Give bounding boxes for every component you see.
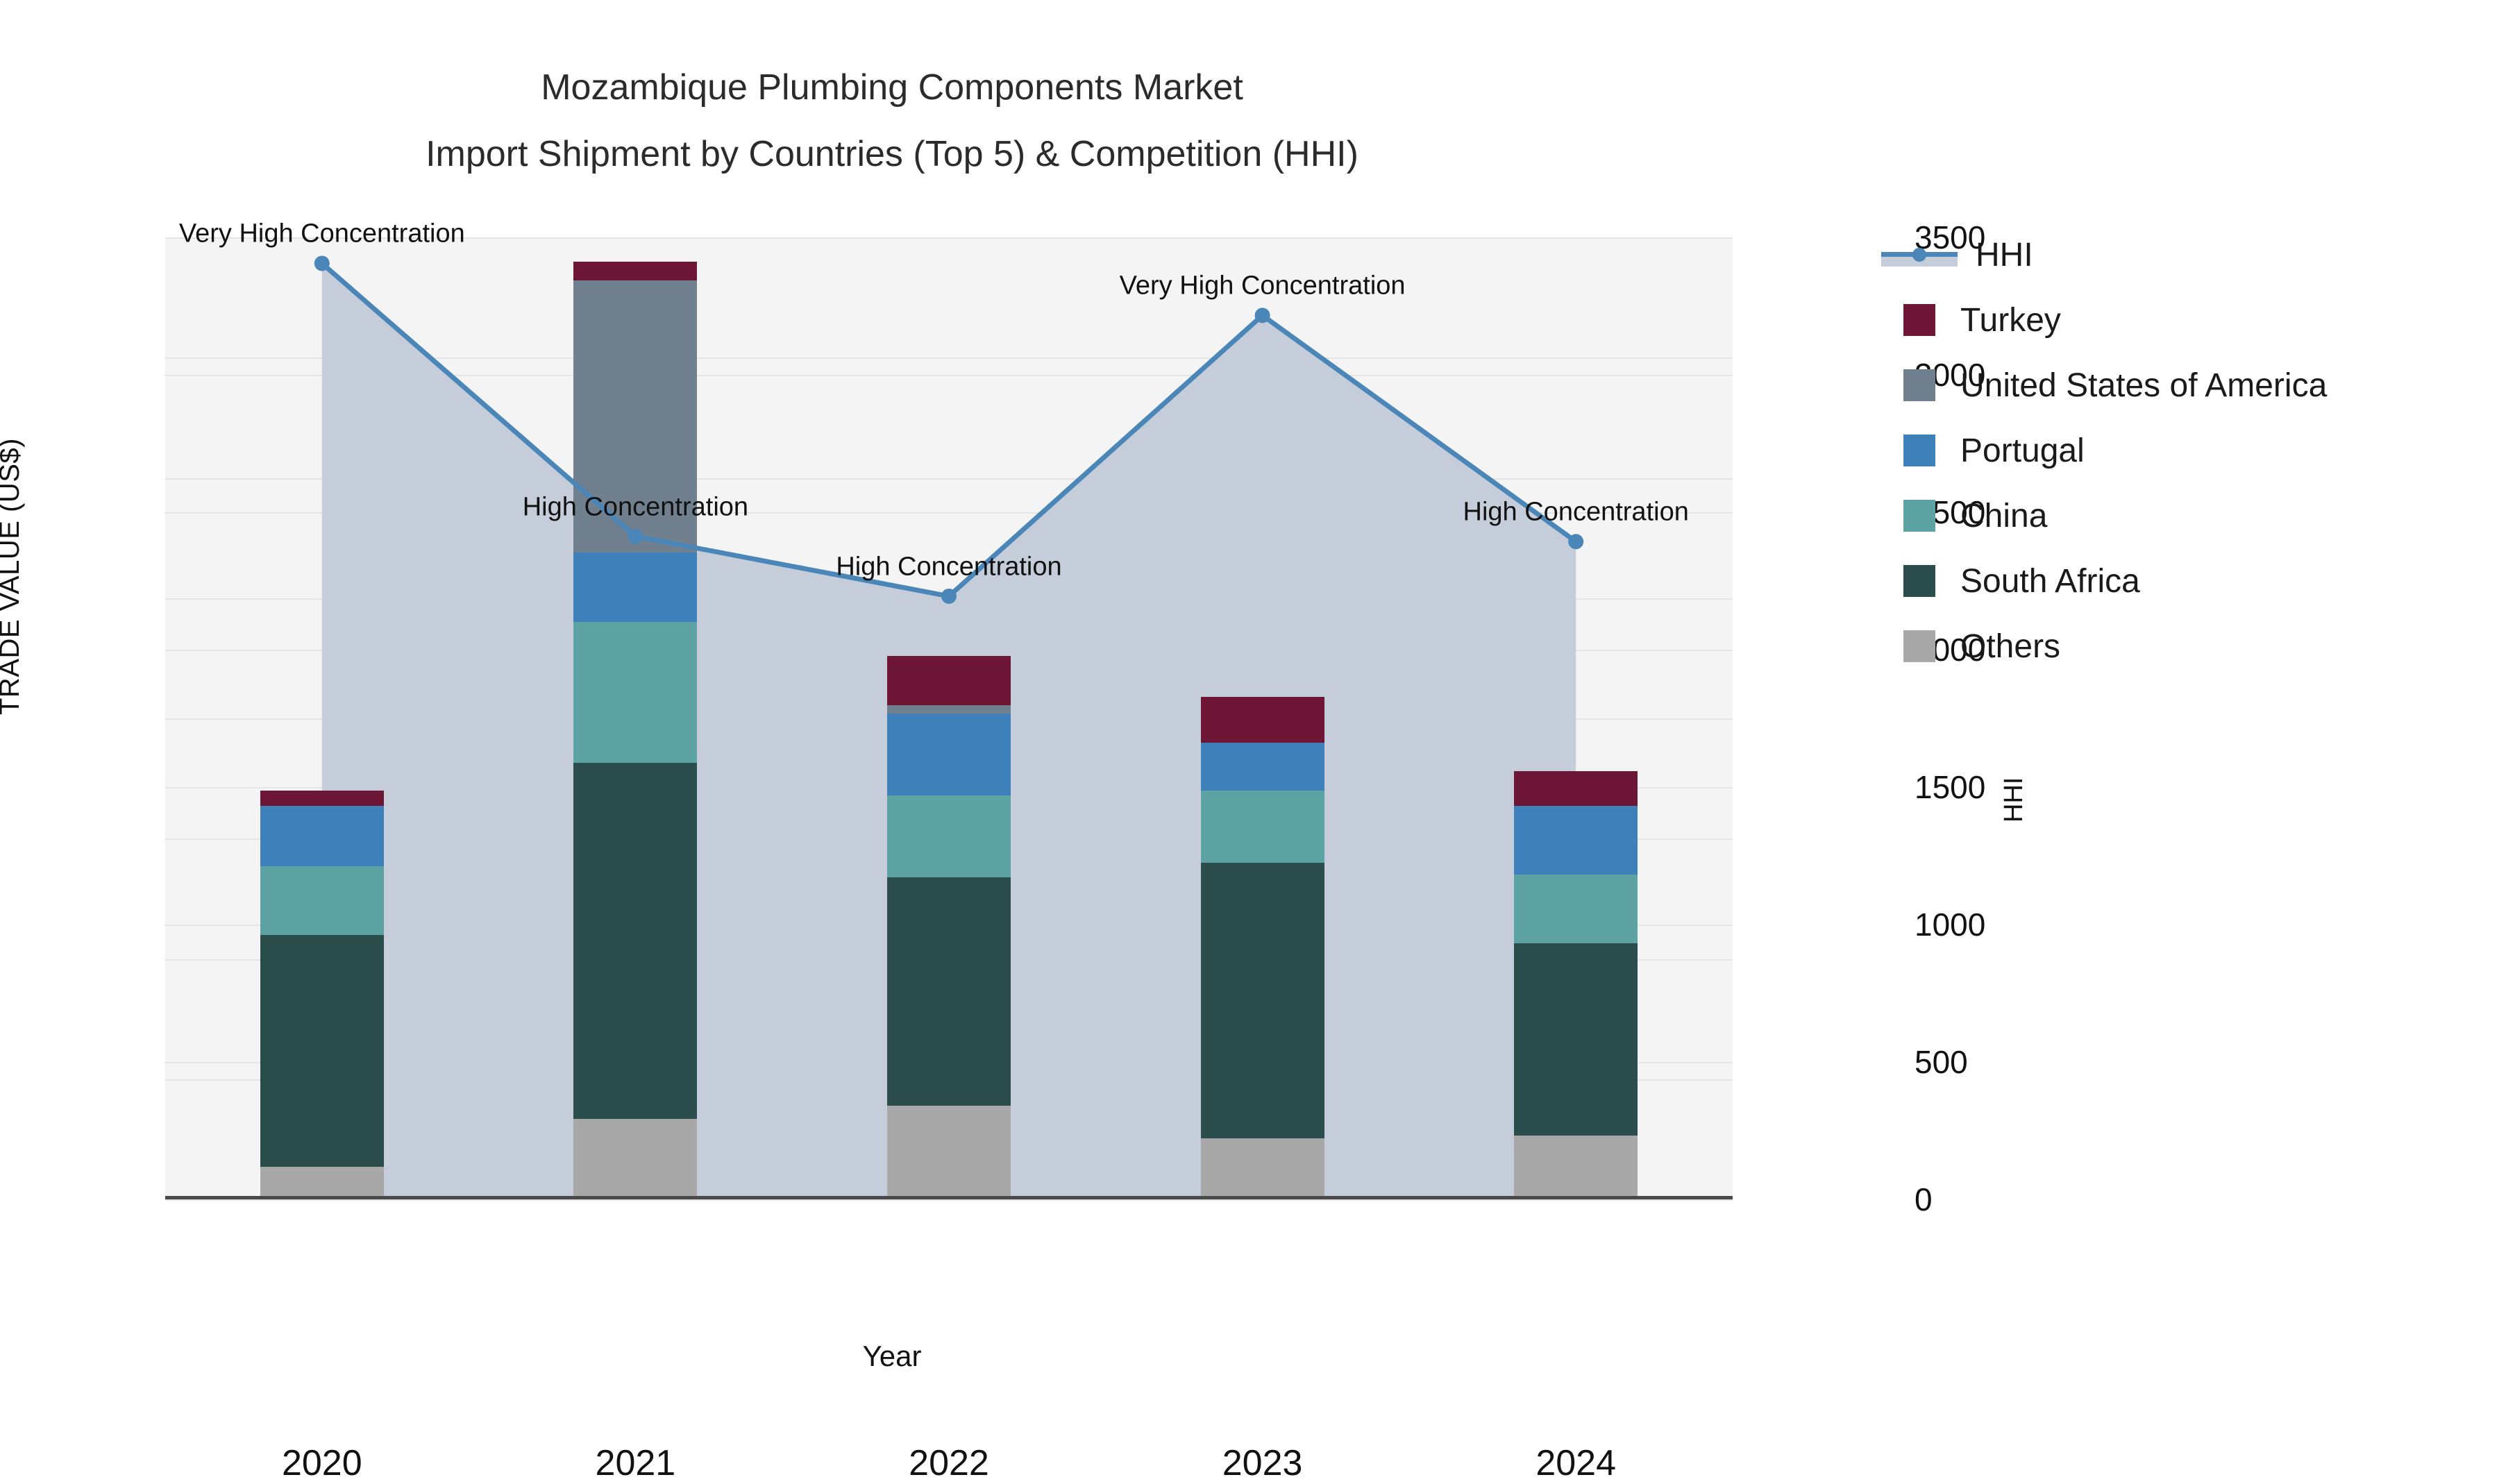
hhi-annotation: Very High Concentration bbox=[1120, 271, 1406, 301]
legend-label: South Africa bbox=[1960, 562, 2140, 600]
gridline-secondary bbox=[165, 1199, 1733, 1201]
bar-segment-portugal[interactable] bbox=[1201, 743, 1324, 791]
bar-segment-portugal[interactable] bbox=[887, 714, 1011, 795]
legend-swatch-icon bbox=[1903, 435, 1935, 466]
legend-label: Portugal bbox=[1960, 432, 2085, 470]
legend-item-south-africa[interactable]: South Africa bbox=[1881, 548, 2492, 614]
bar-segment-others[interactable] bbox=[573, 1119, 697, 1199]
legend-item-hhi[interactable]: HHI bbox=[1881, 222, 2492, 287]
y-tick-label-secondary: 1500 bbox=[1915, 768, 1985, 806]
y-axis-label-primary: TRADE VALUE (US$) bbox=[0, 438, 26, 715]
y-axis-label-secondary: HHI bbox=[1999, 777, 2029, 823]
legend-label: United States of America bbox=[1960, 366, 2327, 405]
y-tick-label-secondary: 0 bbox=[1915, 1181, 1933, 1218]
hhi-annotation: High Concentration bbox=[1463, 498, 1689, 528]
legend-item-china[interactable]: China bbox=[1881, 483, 2492, 548]
x-tick-label: 2023 bbox=[1222, 1442, 1303, 1484]
legend-label: Others bbox=[1960, 627, 2060, 666]
bar-segment-others[interactable] bbox=[260, 1167, 384, 1199]
bar-segment-china[interactable] bbox=[1514, 875, 1638, 943]
bar-segment-turkey[interactable] bbox=[573, 262, 697, 281]
x-axis-line bbox=[165, 1196, 1733, 1199]
chart-subtitle: Import Shipment by Countries (Top 5) & C… bbox=[0, 121, 1784, 187]
bar-segment-portugal[interactable] bbox=[573, 553, 697, 622]
bar-segment-united-states-of-america[interactable] bbox=[887, 705, 1011, 714]
legend-item-portugal[interactable]: Portugal bbox=[1881, 418, 2492, 483]
bar-segment-china[interactable] bbox=[1201, 791, 1324, 863]
x-tick-label: 2024 bbox=[1535, 1442, 1616, 1484]
bar-segment-turkey[interactable] bbox=[1201, 697, 1324, 743]
x-axis-label: Year bbox=[0, 1340, 1784, 1373]
plot-area: 01M2M3M4M5M6M7M8M 0500100015002000250030… bbox=[165, 221, 1733, 1199]
legend-swatch-icon bbox=[1903, 565, 1935, 597]
y-tick-label-secondary: 500 bbox=[1915, 1043, 1968, 1081]
bar-segment-turkey[interactable] bbox=[260, 791, 384, 807]
chart-title: Mozambique Plumbing Components Market bbox=[0, 54, 1784, 121]
bar-2024[interactable] bbox=[1514, 237, 1638, 1199]
y-tick-label-secondary: 1000 bbox=[1915, 906, 1985, 943]
bar-segment-south-africa[interactable] bbox=[887, 877, 1011, 1106]
legend-item-united-states-of-america[interactable]: United States of America bbox=[1881, 353, 2492, 418]
legend-swatch-icon bbox=[1903, 369, 1935, 401]
bar-segment-others[interactable] bbox=[887, 1106, 1011, 1199]
x-tick-label: 2020 bbox=[282, 1442, 362, 1484]
legend-swatch-icon bbox=[1903, 500, 1935, 532]
bar-2021[interactable] bbox=[573, 237, 697, 1199]
x-tick-label: 2022 bbox=[909, 1442, 989, 1484]
chart-title-block: Mozambique Plumbing Components Market Im… bbox=[0, 54, 1784, 187]
bar-segment-portugal[interactable] bbox=[260, 806, 384, 866]
bar-segment-others[interactable] bbox=[1514, 1136, 1638, 1199]
x-tick-label: 2021 bbox=[596, 1442, 676, 1484]
bar-segment-south-africa[interactable] bbox=[260, 935, 384, 1167]
bar-2022[interactable] bbox=[887, 237, 1011, 1199]
bar-segment-china[interactable] bbox=[573, 622, 697, 763]
bar-segment-turkey[interactable] bbox=[1514, 771, 1638, 806]
legend-swatch-icon bbox=[1903, 304, 1935, 336]
bar-segment-south-africa[interactable] bbox=[1201, 863, 1324, 1138]
legend-label: HHI bbox=[1976, 236, 2033, 274]
bar-segment-portugal[interactable] bbox=[1514, 806, 1638, 875]
legend-item-turkey[interactable]: Turkey bbox=[1881, 287, 2492, 353]
bar-2023[interactable] bbox=[1201, 237, 1324, 1199]
legend: HHITurkeyUnited States of AmericaPortuga… bbox=[1881, 222, 2492, 679]
bar-segment-china[interactable] bbox=[887, 795, 1011, 877]
bar-segment-turkey[interactable] bbox=[887, 656, 1011, 705]
bar-segment-south-africa[interactable] bbox=[1514, 943, 1638, 1136]
legend-line-marker-icon bbox=[1881, 239, 1958, 271]
legend-label: Turkey bbox=[1960, 301, 2061, 339]
hhi-annotation: High Concentration bbox=[523, 492, 748, 522]
chart-root: Mozambique Plumbing Components Market Im… bbox=[0, 0, 2499, 1406]
legend-swatch-icon bbox=[1903, 630, 1935, 662]
hhi-annotation: High Concentration bbox=[836, 552, 1061, 582]
bar-segment-china[interactable] bbox=[260, 866, 384, 935]
bar-segment-south-africa[interactable] bbox=[573, 763, 697, 1119]
legend-item-others[interactable]: Others bbox=[1881, 614, 2492, 679]
legend-label: China bbox=[1960, 497, 2047, 535]
hhi-annotation: Very High Concentration bbox=[179, 219, 465, 249]
bar-segment-others[interactable] bbox=[1201, 1138, 1324, 1199]
bar-2020[interactable] bbox=[260, 237, 384, 1199]
